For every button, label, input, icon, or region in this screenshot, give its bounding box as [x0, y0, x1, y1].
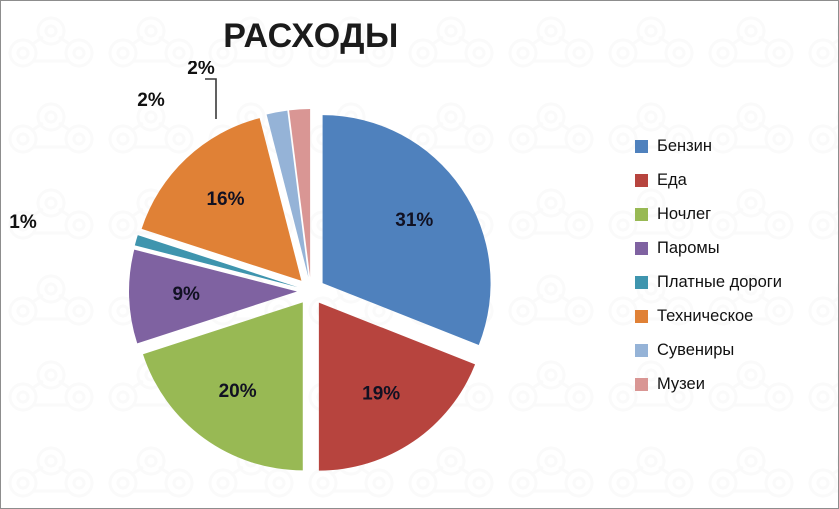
legend-item[interactable]: Бензин	[635, 129, 835, 163]
legend-swatch-icon	[635, 174, 648, 187]
pie-chart: 31%19%20%9%1%16%2%2%	[1, 61, 621, 481]
legend-swatch-icon	[635, 276, 648, 289]
chart-title: РАСХОДЫ	[1, 17, 621, 56]
legend-item[interactable]: Платные дороги	[635, 265, 835, 299]
legend-item-label: Сувениры	[657, 341, 734, 360]
legend-item[interactable]: Паромы	[635, 231, 835, 265]
legend-item[interactable]: Сувениры	[635, 333, 835, 367]
legend-item[interactable]: Еда	[635, 163, 835, 197]
legend-item[interactable]: Ночлег	[635, 197, 835, 231]
legend-swatch-icon	[635, 310, 648, 323]
pie-slice-label: 20%	[219, 381, 257, 402]
legend-swatch-icon	[635, 208, 648, 221]
legend-swatch-icon	[635, 378, 648, 391]
legend-item-label: Бензин	[657, 137, 712, 156]
legend-item-label: Платные дороги	[657, 273, 782, 292]
legend-swatch-icon	[635, 344, 648, 357]
legend-swatch-icon	[635, 242, 648, 255]
legend-item[interactable]: Музеи	[635, 367, 835, 401]
legend-item-label: Ночлег	[657, 205, 711, 224]
pie-slice-label: 31%	[395, 210, 433, 231]
pie-slice-label-outside: 1%	[9, 212, 37, 233]
pie-leader-lines-group	[205, 79, 216, 119]
legend-item-label: Еда	[657, 171, 687, 190]
legend-item-label: Музеи	[657, 375, 705, 394]
pie-slice-label-outside: 2%	[187, 61, 215, 79]
legend-item[interactable]: Техническое	[635, 299, 835, 333]
chart-legend: БензинЕдаНочлегПаромыПлатные дорогиТехни…	[635, 129, 835, 401]
chart-container: РАСХОДЫ 31%19%20%9%1%16%2%2% БензинЕдаНо…	[0, 0, 839, 509]
leader-line-muzei	[205, 79, 216, 119]
pie-slice-label-outside: 2%	[137, 90, 165, 111]
pie-slice-label: 16%	[206, 189, 244, 210]
legend-item-label: Техническое	[657, 307, 753, 326]
pie-slice-label: 9%	[172, 284, 200, 305]
pie-slice-label: 19%	[362, 383, 400, 404]
legend-swatch-icon	[635, 140, 648, 153]
legend-item-label: Паромы	[657, 239, 720, 258]
